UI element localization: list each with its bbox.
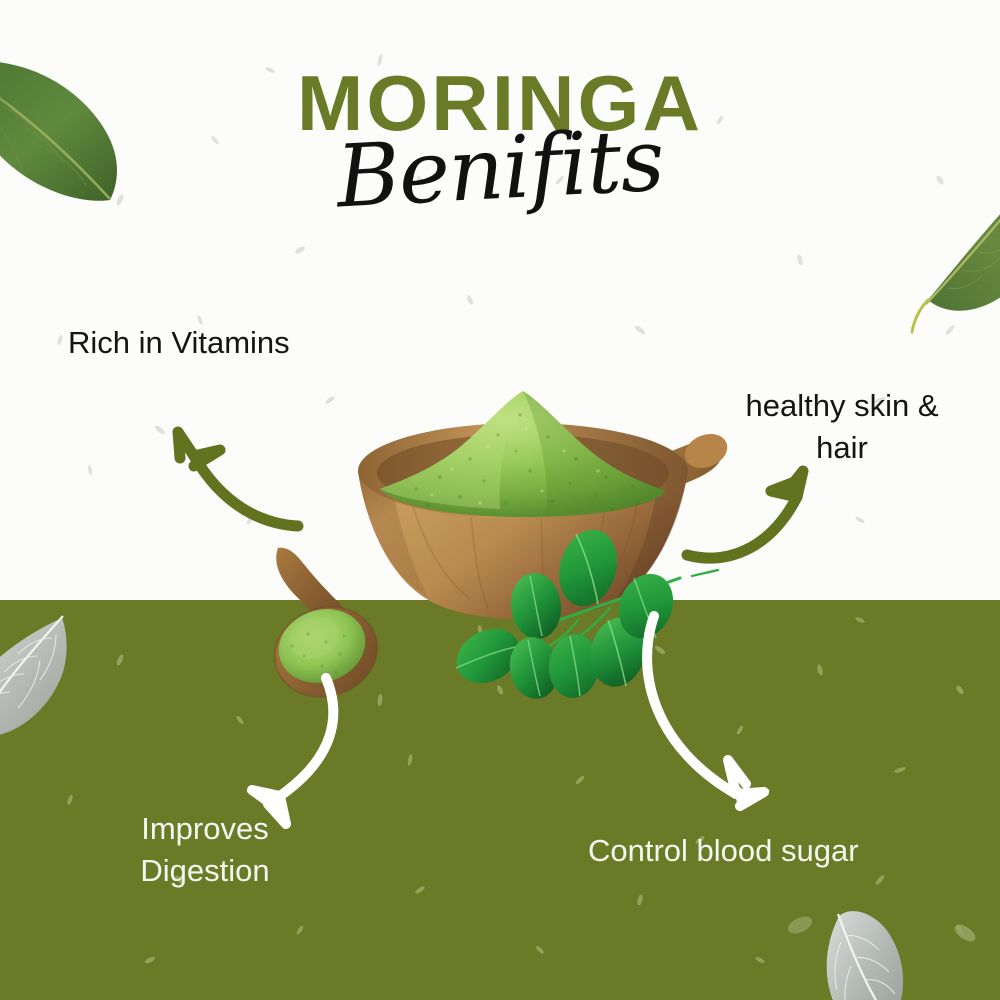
leaf-fleck-icon — [935, 908, 995, 958]
benefit-label-skin: healthy skin & hair — [712, 385, 972, 469]
benefit-label-blood-sugar: Control blood sugar — [588, 830, 859, 872]
infographic-poster: MORINGA Benifits — [0, 0, 1000, 1000]
gray-skeleton-leaf-bottom-left-icon — [0, 604, 116, 744]
curved-arrow-down-right-icon — [620, 608, 800, 818]
curved-arrow-up-left-icon — [150, 408, 340, 578]
curved-arrow-up-right-icon — [685, 455, 855, 600]
leaf-fleck-icon — [770, 900, 830, 950]
benefit-label-vitamins: Rich in Vitamins — [68, 322, 290, 364]
benefit-label-digestion: Improves Digestion — [105, 808, 305, 892]
